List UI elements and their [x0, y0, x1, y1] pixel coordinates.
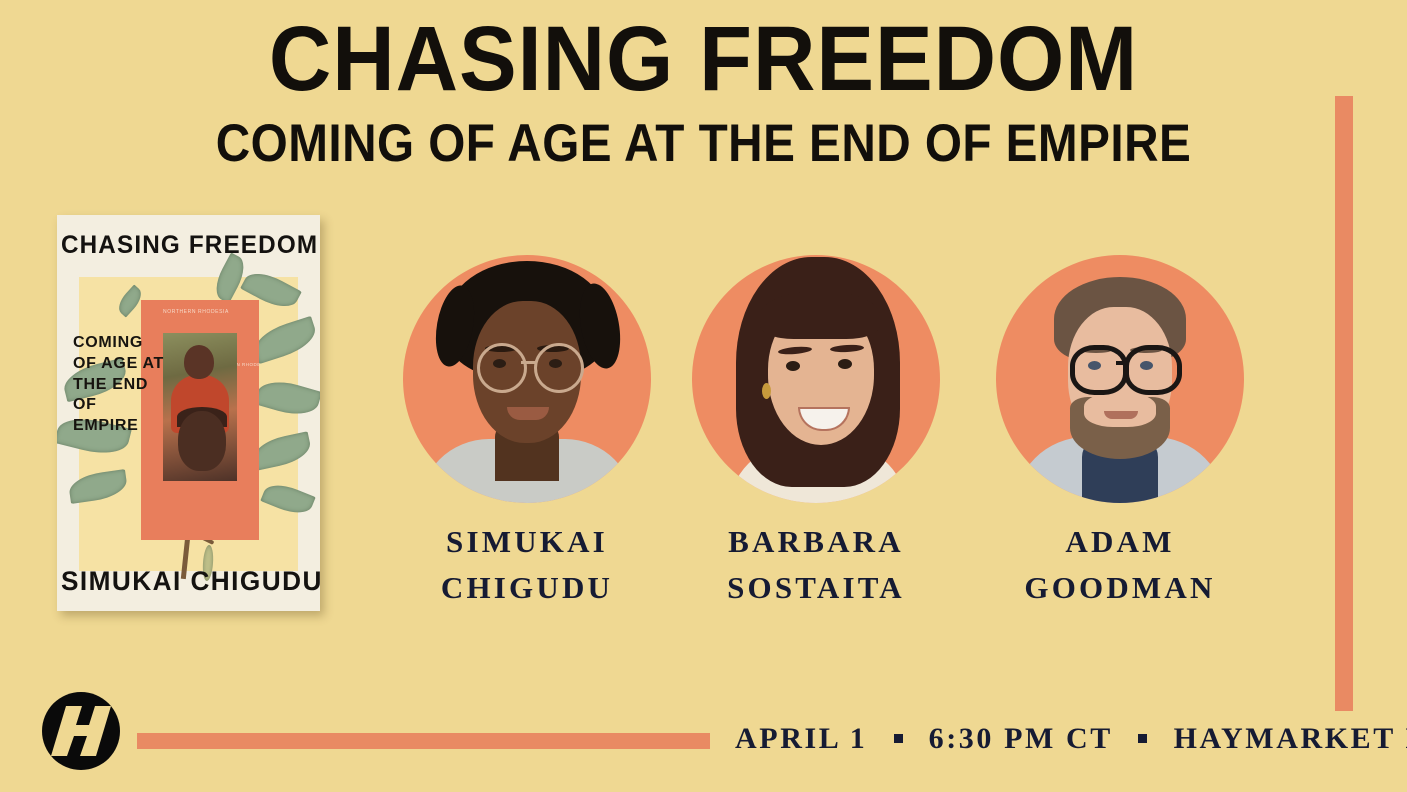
title-block: CHASING FREEDOM COMING OF AGE AT THE END…	[0, 14, 1407, 170]
event-date: APRIL 1	[735, 722, 867, 755]
page-title: CHASING FREEDOM	[42, 14, 1365, 104]
footer-details: APRIL 1 6:30 PM CT HAYMARKET HOUSE	[735, 722, 1365, 756]
photo-child-head	[184, 345, 214, 379]
footer-accent-bar	[137, 733, 710, 749]
book-cover-subtitle: COMING OF AGE AT THE END OF EMPIRE	[73, 333, 165, 437]
separator-bullet	[894, 734, 903, 743]
speaker-card: SIMUKAI CHIGUDU	[403, 255, 651, 611]
avatar	[996, 255, 1244, 503]
accent-bar-vertical	[1335, 96, 1353, 711]
event-poster: CHASING FREEDOM COMING OF AGE AT THE END…	[0, 0, 1407, 792]
book-cover-author: SIMUKAI CHIGUDU	[61, 566, 316, 597]
avatar	[403, 255, 651, 503]
speaker-card: BARBARA SOSTAITA	[692, 255, 940, 611]
book-cover-photo	[163, 333, 237, 481]
map-label-northern: NORTHERN RHODESIA	[163, 309, 229, 315]
avatar	[692, 255, 940, 503]
book-cover: NORTHERN RHODESIA SOUTHERN RHODESIA CHAS…	[57, 215, 320, 611]
photo-adult-head	[178, 411, 226, 471]
speaker-name: SIMUKAI CHIGUDU	[403, 519, 651, 611]
logo-h-glyph	[42, 692, 120, 770]
separator-bullet	[1138, 734, 1147, 743]
event-time: 6:30 PM CT	[929, 722, 1113, 755]
event-venue: HAYMARKET HOUSE	[1174, 722, 1407, 755]
speaker-name: ADAM GOODMAN	[996, 519, 1244, 611]
speaker-name: BARBARA SOSTAITA	[692, 519, 940, 611]
speaker-card: ADAM GOODMAN	[996, 255, 1244, 611]
book-cover-title: CHASING FREEDOM	[61, 231, 316, 260]
haymarket-logo-icon	[42, 692, 120, 770]
page-subtitle: COMING OF AGE AT THE END OF EMPIRE	[70, 117, 1336, 170]
